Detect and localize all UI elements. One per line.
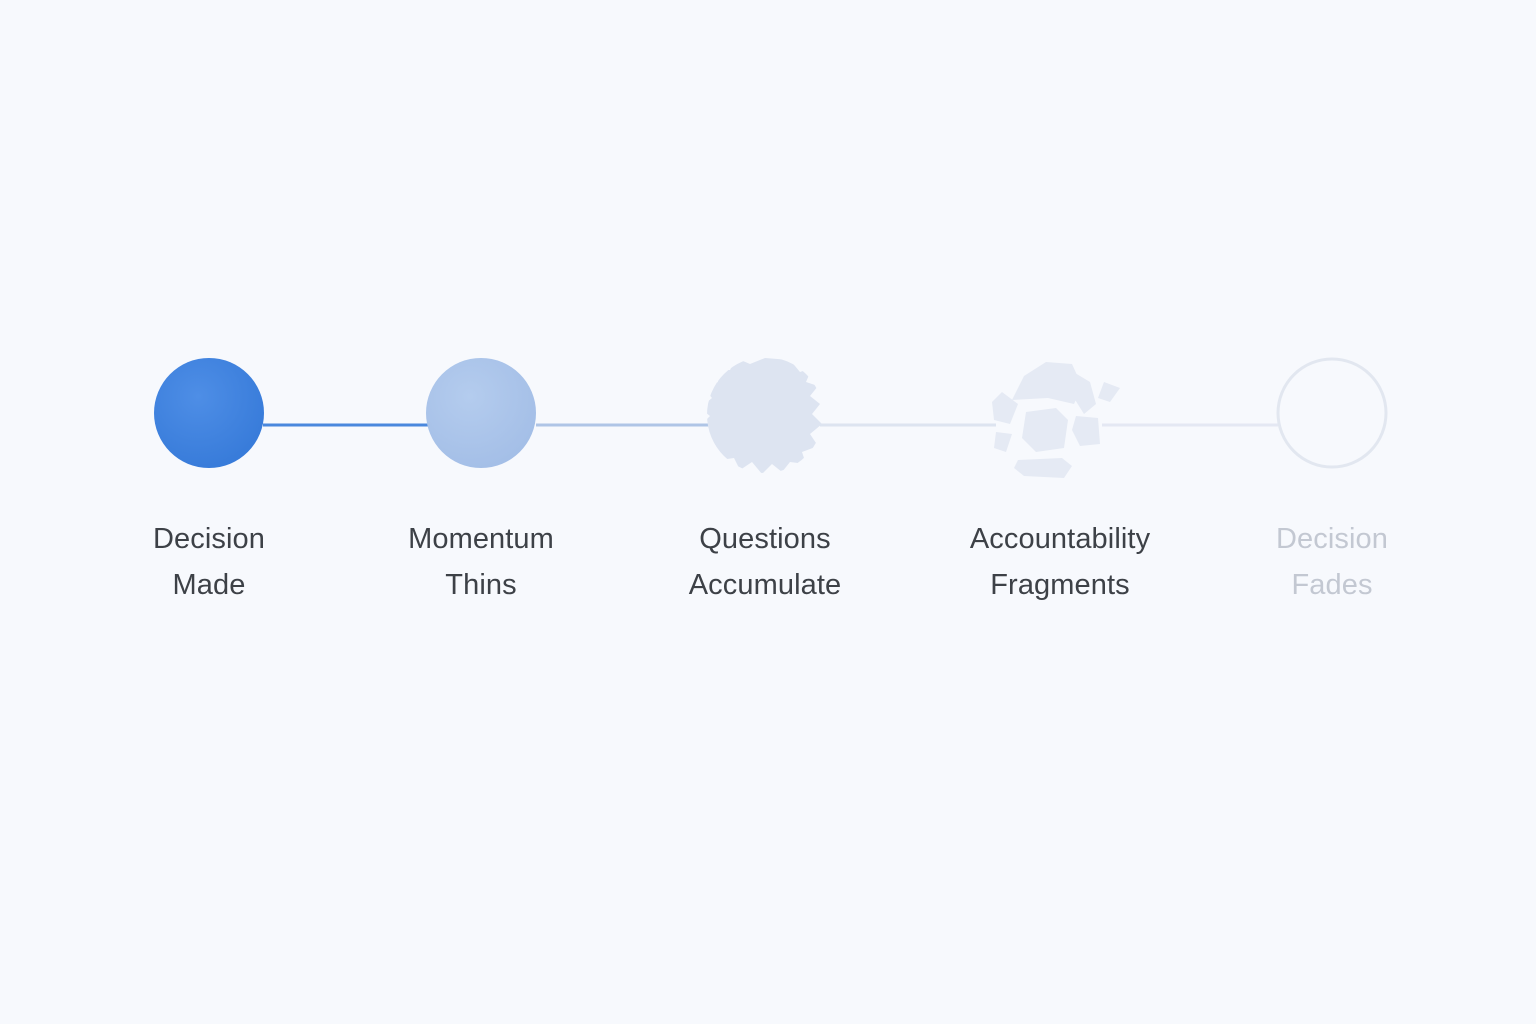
- stage-node-decision-made[interactable]: [154, 358, 264, 468]
- stage-label-decision-made: Decision Made: [153, 516, 265, 608]
- decay-timeline-diagram: Decision Made Momentum Thins Questions A…: [0, 0, 1536, 1024]
- stage-node-accountability-fragments[interactable]: [992, 362, 1120, 478]
- decay-timeline-canvas: [0, 0, 1536, 1024]
- stage-label-decision-fades: Decision Fades: [1276, 516, 1388, 608]
- stage-label-momentum-thins: Momentum Thins: [408, 516, 554, 608]
- stage-label-questions-accumulate: Questions Accumulate: [689, 516, 842, 608]
- stage-node-questions-accumulate[interactable]: [707, 357, 823, 473]
- stage-node-momentum-thins[interactable]: [426, 358, 536, 468]
- stage-node-decision-fades[interactable]: [1278, 359, 1386, 467]
- stage-label-accountability-fragments: Accountability Fragments: [970, 516, 1150, 608]
